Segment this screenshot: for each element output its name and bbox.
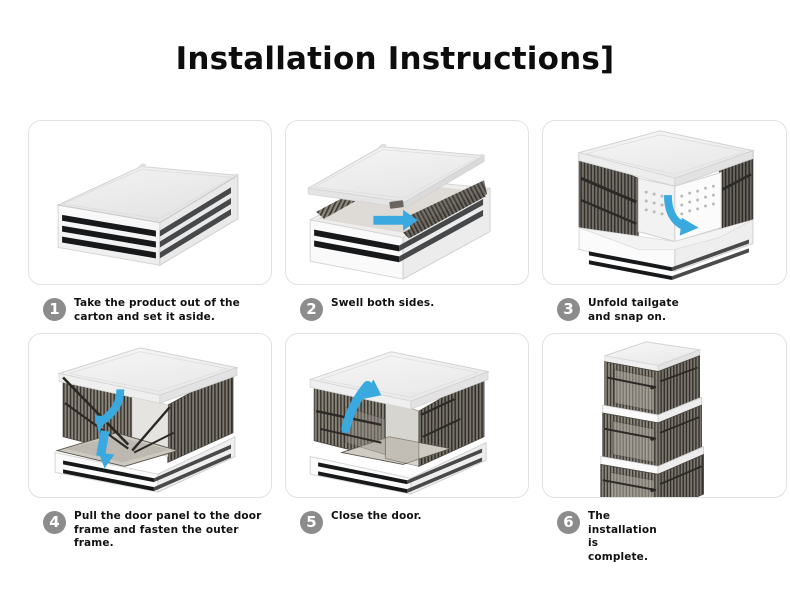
step-3: 3 Unfold tailgate and snap on. [542,120,787,325]
box-sides-unfolded-tailgate-icon [543,121,786,284]
folded-box-closed-icon [29,121,271,284]
step-6-caption: 6 The installation is complete. [542,498,787,565]
step-2: 2 Swell both sides. [285,120,529,325]
box-lid-tilted-open-icon [286,121,528,284]
step-4-illustration-card [28,333,272,498]
step-4-badge: 4 [43,511,66,534]
step-1-caption-text: Take the product out of the carton and s… [74,297,270,325]
step-3-caption: 3 Unfold tailgate and snap on. [542,285,787,325]
step-2-caption-text: Swell both sides. [331,297,434,311]
step-1-illustration-card [28,120,272,285]
step-3-badge: 3 [557,298,580,321]
step-1: 1 Take the product out of the carton and… [28,120,272,325]
step-1-badge: 1 [43,298,66,321]
page-title: Installation Instructions] [0,0,790,76]
step-3-illustration-card [542,120,787,285]
step-3-caption-text: Unfold tailgate and snap on. [588,297,680,325]
step-5: 5 Close the door. [285,333,529,565]
box-door-closing-icon [286,334,528,497]
step-5-caption: 5 Close the door. [285,498,529,534]
step-2-badge: 2 [300,298,323,321]
step-2-illustration-card [285,120,529,285]
steps-grid: 1 Take the product out of the carton and… [28,120,785,565]
instruction-sheet: Installation Instructions] [0,0,790,609]
step-5-caption-text: Close the door. [331,510,422,524]
step-5-badge: 5 [300,511,323,534]
step-4-caption: 4 Pull the door panel to the door frame … [28,498,272,552]
box-door-panel-open-icon [29,334,271,497]
step-1-caption: 1 Take the product out of the carton and… [28,285,272,325]
step-6-illustration-card [542,333,787,498]
step-4: 4 Pull the door panel to the door frame … [28,333,272,565]
three-stacked-boxes-icon [543,334,786,497]
step-6-caption-text: The installation is complete. [588,510,660,565]
step-6-badge: 6 [557,511,580,534]
step-4-caption-text: Pull the door panel to the door frame an… [74,510,270,552]
step-5-illustration-card [285,333,529,498]
step-6: 6 The installation is complete. [542,333,787,565]
step-2-caption: 2 Swell both sides. [285,285,529,321]
